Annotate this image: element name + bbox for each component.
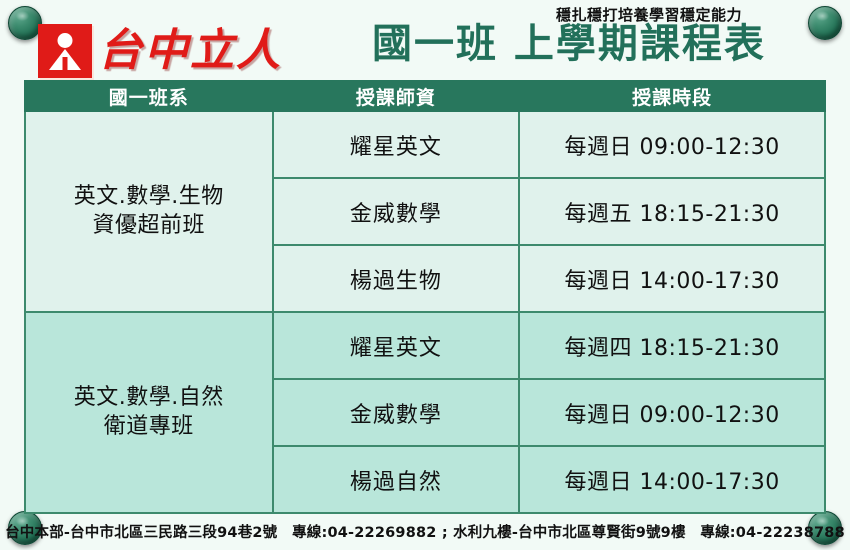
brand-logo: 台中立人 bbox=[38, 24, 282, 78]
brand-name: 台中立人 bbox=[98, 29, 282, 73]
class-name-line-2: 衛道專班 bbox=[26, 413, 272, 441]
teacher-cell: 楊過生物 bbox=[273, 245, 520, 312]
table-header-row: 國一班系 授課師資 授課時段 bbox=[25, 81, 825, 111]
time-cell: 每週四 18:15-21:30 bbox=[519, 312, 825, 379]
schedule-poster: 台中立人 穩扎穩打培養學習穩定能力 國一班 上學期課程表 國一班系 授課師資 授… bbox=[0, 0, 850, 550]
schedule-table: 國一班系 授課師資 授課時段 英文.數學.生物 資優超前班 耀星英文 每週日 0… bbox=[24, 80, 826, 514]
teacher-cell: 金威數學 bbox=[273, 178, 520, 245]
class-name-line-2: 資優超前班 bbox=[26, 212, 272, 240]
class-name-line-1: 英文.數學.生物 bbox=[26, 183, 272, 211]
table-header: 國一班系 授課師資 授課時段 bbox=[25, 81, 825, 111]
class-name-cell: 英文.數學.自然 衛道專班 bbox=[25, 312, 273, 513]
class-name-line-1: 英文.數學.自然 bbox=[26, 384, 272, 412]
logo-head-shape bbox=[58, 33, 73, 48]
corner-knob-top-right-icon bbox=[808, 6, 842, 40]
table-group-weidao: 英文.數學.自然 衛道專班 耀星英文 每週四 18:15-21:30 金威數學 … bbox=[25, 312, 825, 513]
time-cell: 每週日 14:00-17:30 bbox=[519, 245, 825, 312]
person-in-square-icon bbox=[38, 24, 92, 78]
teacher-cell: 耀星英文 bbox=[273, 312, 520, 379]
time-cell: 每週日 14:00-17:30 bbox=[519, 446, 825, 513]
teacher-cell: 金威數學 bbox=[273, 379, 520, 446]
time-cell: 每週日 09:00-12:30 bbox=[519, 111, 825, 178]
footer-contact-info: 台中本部-台中市北區三民路三段94巷2號 專線:04-22269882 ; 水利… bbox=[0, 521, 850, 542]
corner-knob-top-left-icon bbox=[8, 6, 42, 40]
column-header-class: 國一班系 bbox=[25, 81, 273, 111]
teacher-cell: 耀星英文 bbox=[273, 111, 520, 178]
table-row: 英文.數學.生物 資優超前班 耀星英文 每週日 09:00-12:30 bbox=[25, 111, 825, 178]
time-cell: 每週日 09:00-12:30 bbox=[519, 379, 825, 446]
logo-legs-shape bbox=[63, 57, 68, 70]
table-row: 英文.數學.自然 衛道專班 耀星英文 每週四 18:15-21:30 bbox=[25, 312, 825, 379]
time-cell: 每週五 18:15-21:30 bbox=[519, 178, 825, 245]
column-header-time: 授課時段 bbox=[519, 81, 825, 111]
class-name-cell: 英文.數學.生物 資優超前班 bbox=[25, 111, 273, 312]
teacher-cell: 楊過自然 bbox=[273, 446, 520, 513]
column-header-teacher: 授課師資 bbox=[273, 81, 520, 111]
table-group-advanced: 英文.數學.生物 資優超前班 耀星英文 每週日 09:00-12:30 金威數學… bbox=[25, 111, 825, 312]
page-title: 國一班 上學期課程表 bbox=[372, 24, 766, 64]
